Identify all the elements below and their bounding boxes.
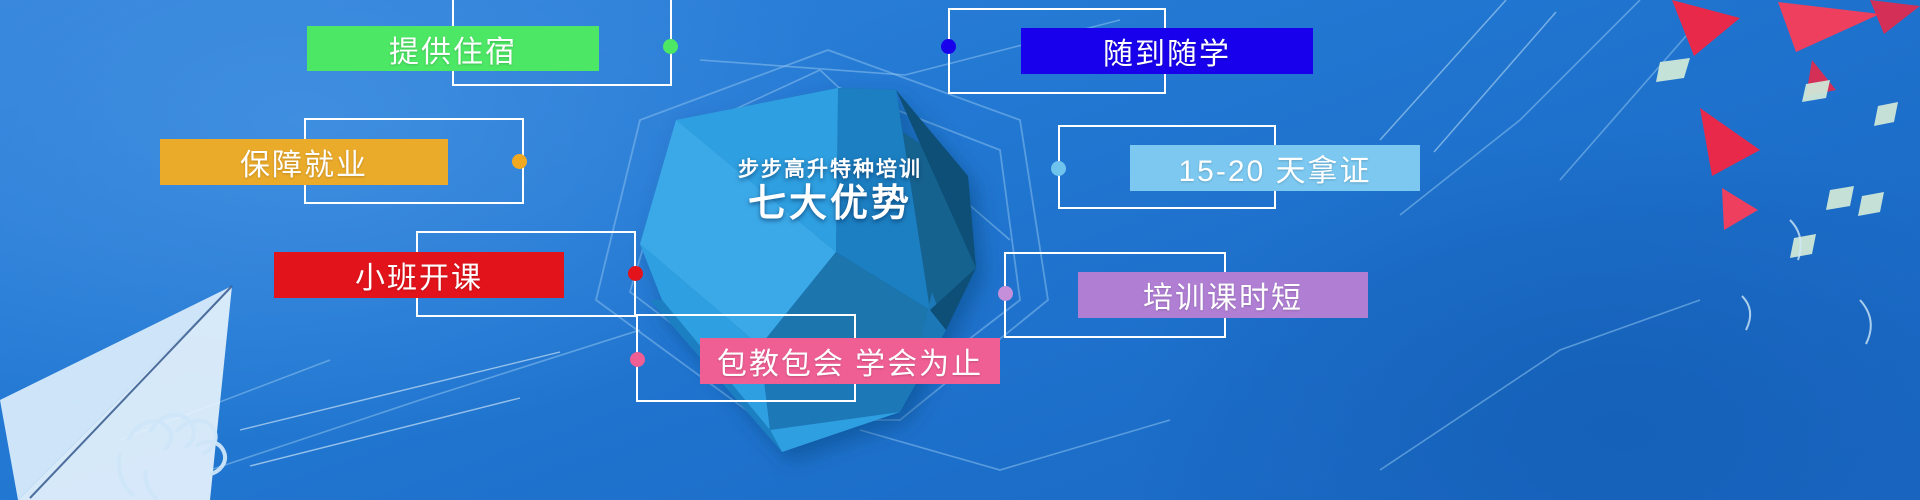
- tag-teach-until-mastery[interactable]: 包教包会 学会为止: [700, 338, 1000, 384]
- tag-label-learn-anytime: 随到随学: [1103, 29, 1231, 73]
- tag-guarantee-employment[interactable]: 保障就业: [160, 139, 448, 185]
- tag-learn-anytime[interactable]: 随到随学: [1021, 28, 1313, 74]
- tag-label-certificate-days: 15-20 天拿证: [1178, 146, 1371, 190]
- connector-dot-small-class: [628, 266, 643, 281]
- connector-dot-certificate-days: [1051, 161, 1066, 176]
- tag-provide-accommodation[interactable]: 提供住宿: [307, 26, 599, 71]
- tag-label-small-class: 小班开课: [355, 253, 483, 297]
- center-subtitle: 步步高升特种培训: [620, 158, 1040, 181]
- tag-small-class[interactable]: 小班开课: [274, 252, 564, 298]
- connector-dot-guarantee-employment: [512, 154, 527, 169]
- tag-label-guarantee-employment: 保障就业: [240, 140, 368, 184]
- connector-dot-provide-accommodation: [663, 39, 678, 54]
- banner-canvas: 步步高升特种培训 七大优势 提供住宿 随到随学 保障就业 15-20 天拿证 小…: [0, 0, 1920, 500]
- center-title-block: 步步高升特种培训 七大优势: [620, 158, 1040, 227]
- connector-dot-teach-until-mastery: [630, 352, 645, 367]
- tag-label-short-course-hours: 培训课时短: [1143, 273, 1303, 317]
- connector-dot-learn-anytime: [941, 39, 956, 54]
- tag-certificate-days[interactable]: 15-20 天拿证: [1130, 145, 1420, 191]
- tag-label-provide-accommodation: 提供住宿: [389, 27, 517, 71]
- center-title: 七大优势: [620, 183, 1040, 227]
- connector-dot-short-course-hours: [998, 286, 1013, 301]
- tag-label-teach-until-mastery: 包教包会 学会为止: [717, 339, 983, 383]
- tag-short-course-hours[interactable]: 培训课时短: [1078, 272, 1368, 318]
